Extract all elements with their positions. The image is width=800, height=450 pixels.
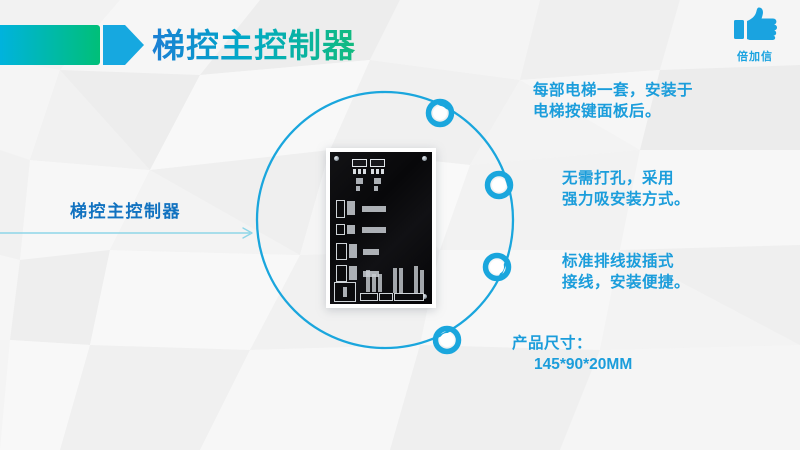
terminal-block-2 xyxy=(379,293,393,301)
pad-row-b1 xyxy=(371,169,374,174)
product-label: 梯控主控制器 xyxy=(70,197,181,222)
header-block-2 xyxy=(370,159,385,167)
callout-1-line1: 每部电梯一套，安装于 xyxy=(533,82,693,99)
silk-label-top-4 xyxy=(374,186,378,191)
silk-pin-label-2 xyxy=(347,225,355,234)
screw-top-left xyxy=(334,156,339,161)
pad-row-a2 xyxy=(358,169,361,174)
callout-mounting: 无需打孔，采用 强力吸安装方式。 xyxy=(562,168,690,210)
pad-row-b3 xyxy=(381,169,384,174)
silk-vertical-label-1 xyxy=(366,270,370,292)
silk-relay-label xyxy=(343,287,347,297)
silk-label-top-3 xyxy=(356,186,360,191)
callout-4-label: 产品尺寸： xyxy=(512,335,592,352)
callout-installation: 每部电梯一套，安装于 电梯按键面板后。 xyxy=(533,80,693,122)
terminal-block-1 xyxy=(360,293,378,301)
silk-pin-label-4 xyxy=(349,266,357,280)
pcb-board xyxy=(330,152,432,304)
callout-3-line2: 接线，安装便捷。 xyxy=(562,272,690,293)
callout-2-line2: 强力吸安装方式。 xyxy=(562,189,690,210)
callout-3-line1: 标准排线拔插式 xyxy=(562,253,674,270)
callout-wiring: 标准排线拔插式 接线，安装便捷。 xyxy=(562,251,690,293)
silk-pin-label-1 xyxy=(347,201,355,215)
callout-1-line2: 电梯按键面板后。 xyxy=(533,101,693,122)
connector-2 xyxy=(336,224,345,235)
terminal-block-3 xyxy=(394,293,424,301)
silk-vertical-label-7 xyxy=(420,270,424,293)
header-banner-bar xyxy=(0,25,100,65)
slide-canvas: 梯控主控制器 倍加信 梯控主控制器 xyxy=(0,0,800,450)
silk-port-label-3 xyxy=(363,249,379,255)
connector-3 xyxy=(336,243,347,260)
brand-logo: 倍加信 xyxy=(724,6,786,58)
thumbs-up-icon xyxy=(724,6,786,42)
pointer-arrow-icon xyxy=(0,222,265,244)
callout-4-value: 145*90*20MM xyxy=(512,354,632,375)
brand-name: 倍加信 xyxy=(724,48,786,64)
callout-2-line1: 无需打孔，采用 xyxy=(562,170,674,187)
silk-pin-label-3 xyxy=(349,244,357,258)
silk-vertical-label-4 xyxy=(393,268,397,293)
product-image-elevator-controller-pcb xyxy=(326,148,436,308)
silk-port-label-2 xyxy=(362,227,386,233)
silk-vertical-label-3 xyxy=(378,274,382,292)
silk-vertical-label-5 xyxy=(399,268,403,293)
pad-row-a1 xyxy=(353,169,356,174)
callout-dimensions: 产品尺寸： 145*90*20MM xyxy=(512,333,632,375)
page-title: 梯控主控制器 xyxy=(152,27,356,65)
header-chevron-icon xyxy=(103,25,145,65)
screw-top-right xyxy=(422,156,427,161)
silk-label-top-1 xyxy=(356,178,363,184)
silk-vertical-label-2 xyxy=(372,274,376,292)
pad-row-b2 xyxy=(376,169,379,174)
header-block-1 xyxy=(352,159,367,167)
silk-vertical-label-6 xyxy=(414,266,418,293)
connector-1 xyxy=(336,200,345,218)
pad-row-a3 xyxy=(363,169,366,174)
silk-label-top-2 xyxy=(374,178,381,184)
connector-4 xyxy=(336,265,347,282)
silk-port-label-1 xyxy=(362,206,386,212)
